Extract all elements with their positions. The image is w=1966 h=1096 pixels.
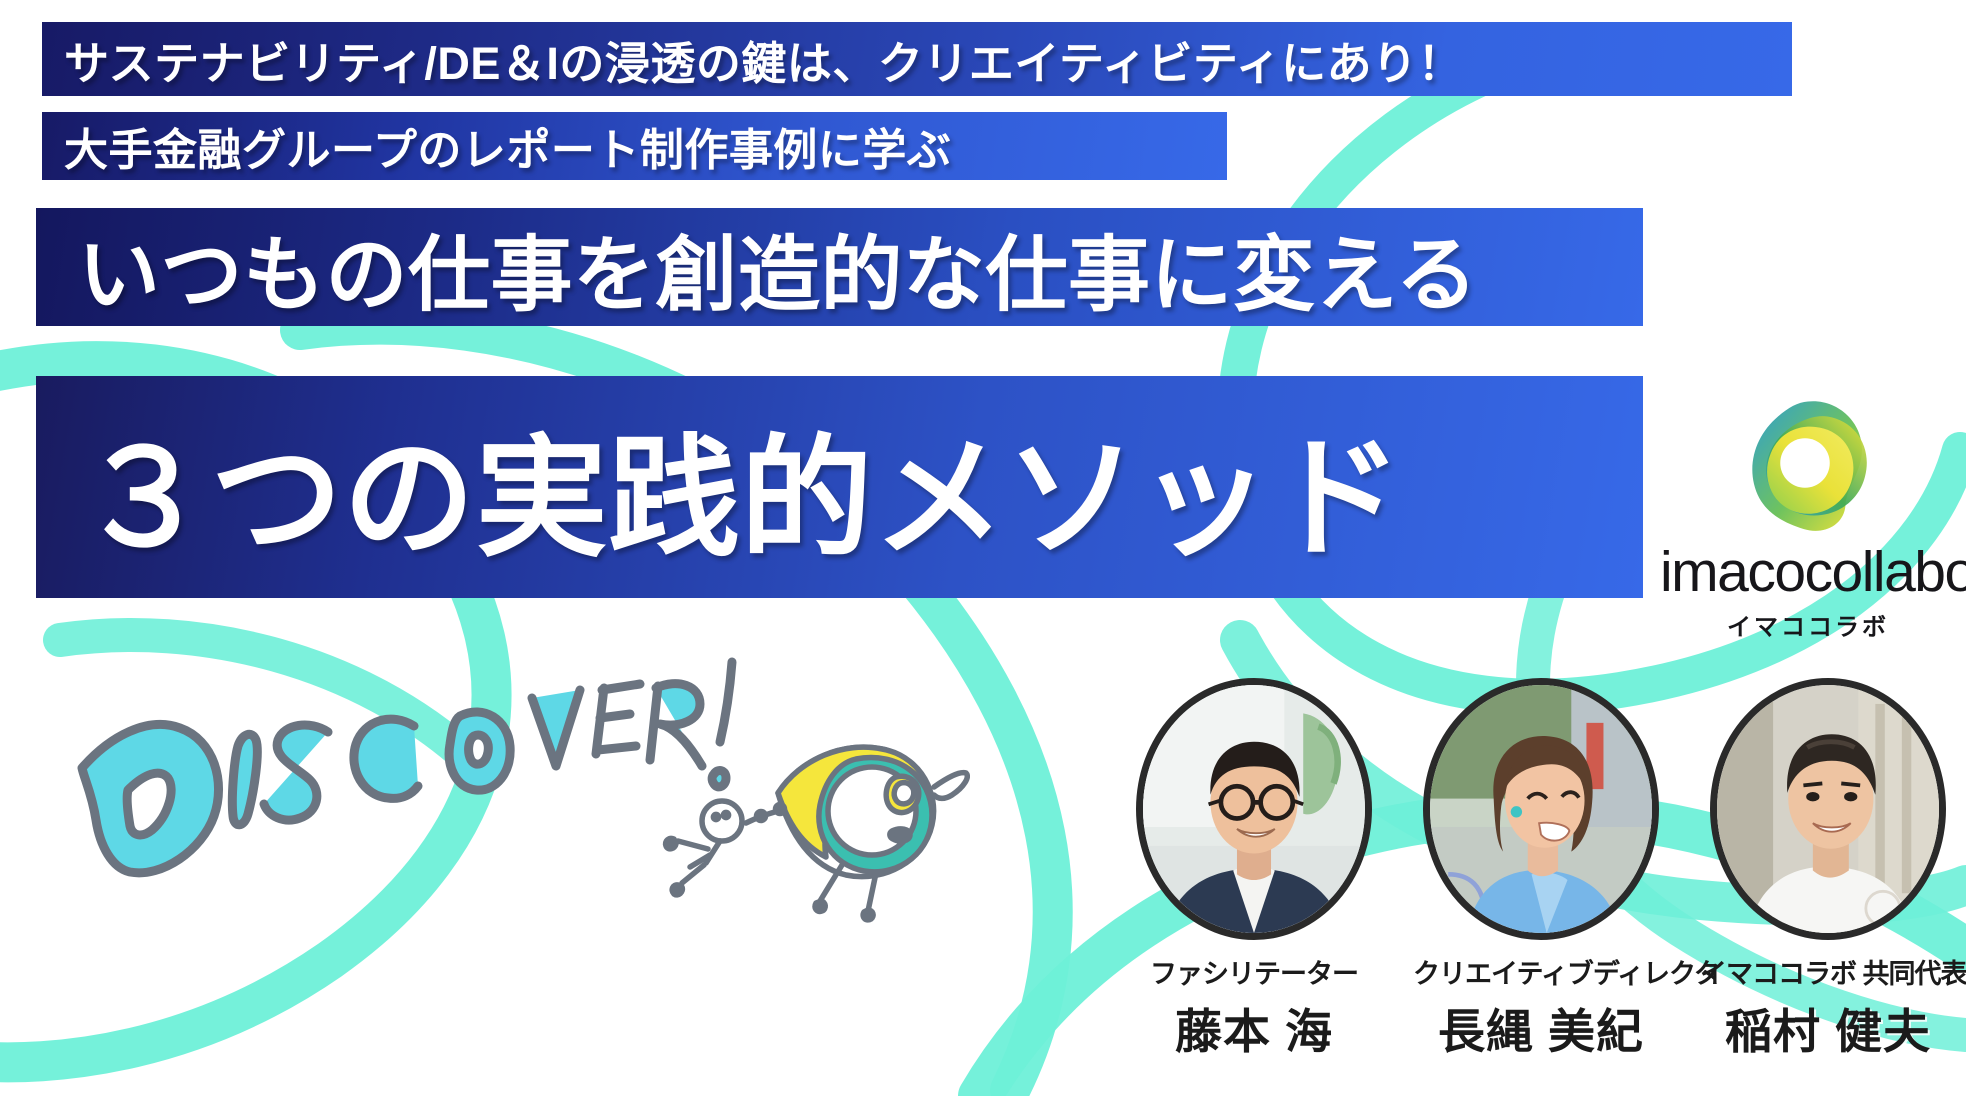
- speakers-row: ファシリテーター 藤本 海: [1126, 678, 1956, 1078]
- kicker-headline-text-2: 大手金融グループのレポート制作事例に学ぶ: [64, 114, 951, 178]
- imacocollabo-flower-mark-icon: [1733, 388, 1883, 538]
- speaker-card-1: ファシリテーター 藤本 海: [1126, 678, 1382, 1078]
- speaker-photo-naganawa: [1423, 678, 1659, 940]
- speaker-name: 稲村 健夫: [1700, 993, 1956, 1062]
- speaker-card-3: イマココラボ 共同代表 稲村 健夫: [1700, 678, 1956, 1078]
- speaker-name: 長縄 美紀: [1413, 993, 1669, 1062]
- webinar-banner: サステナビリティ/DE＆Iの浸透の鍵は、クリエイティビティにあり！ 大手金融グル…: [0, 0, 1966, 1096]
- kicker-headline-bar-1: サステナビリティ/DE＆Iの浸透の鍵は、クリエイティビティにあり！: [42, 22, 1792, 96]
- speaker-role: クリエイティブディレクタ: [1413, 952, 1669, 991]
- speaker-name: 藤本 海: [1126, 993, 1382, 1062]
- speaker-role: イマココラボ 共同代表: [1700, 952, 1956, 991]
- logo-wordmark: imacocollabo: [1660, 544, 1956, 601]
- main-headline-bar-1: いつもの仕事を創造的な仕事に変える: [36, 208, 1643, 326]
- speaker-photo-inamura: [1710, 678, 1946, 940]
- imacocollabo-logo: imacocollabo イマココラボ: [1660, 388, 1956, 642]
- main-headline-bar-2: ３つの実践的メソッド: [36, 376, 1643, 598]
- main-headline-text-1: いつもの仕事を創造的な仕事に変える: [78, 208, 1478, 327]
- kicker-headline-text-1: サステナビリティ/DE＆Iの浸透の鍵は、クリエイティビティにあり！: [64, 27, 1463, 92]
- logo-reading: イマココラボ: [1660, 607, 1956, 642]
- kicker-headline-bar-2: 大手金融グループのレポート制作事例に学ぶ: [42, 112, 1227, 180]
- main-headline-text-2: ３つの実践的メソッド: [78, 392, 1403, 583]
- speaker-card-2: クリエイティブディレクタ 長縄 美紀: [1413, 678, 1669, 1078]
- speaker-role: ファシリテーター: [1126, 952, 1382, 991]
- speaker-photo-fujimoto: [1136, 678, 1372, 940]
- discover-handwriting-doodle: [56, 650, 756, 900]
- rocket-bird-doodle: [660, 715, 970, 925]
